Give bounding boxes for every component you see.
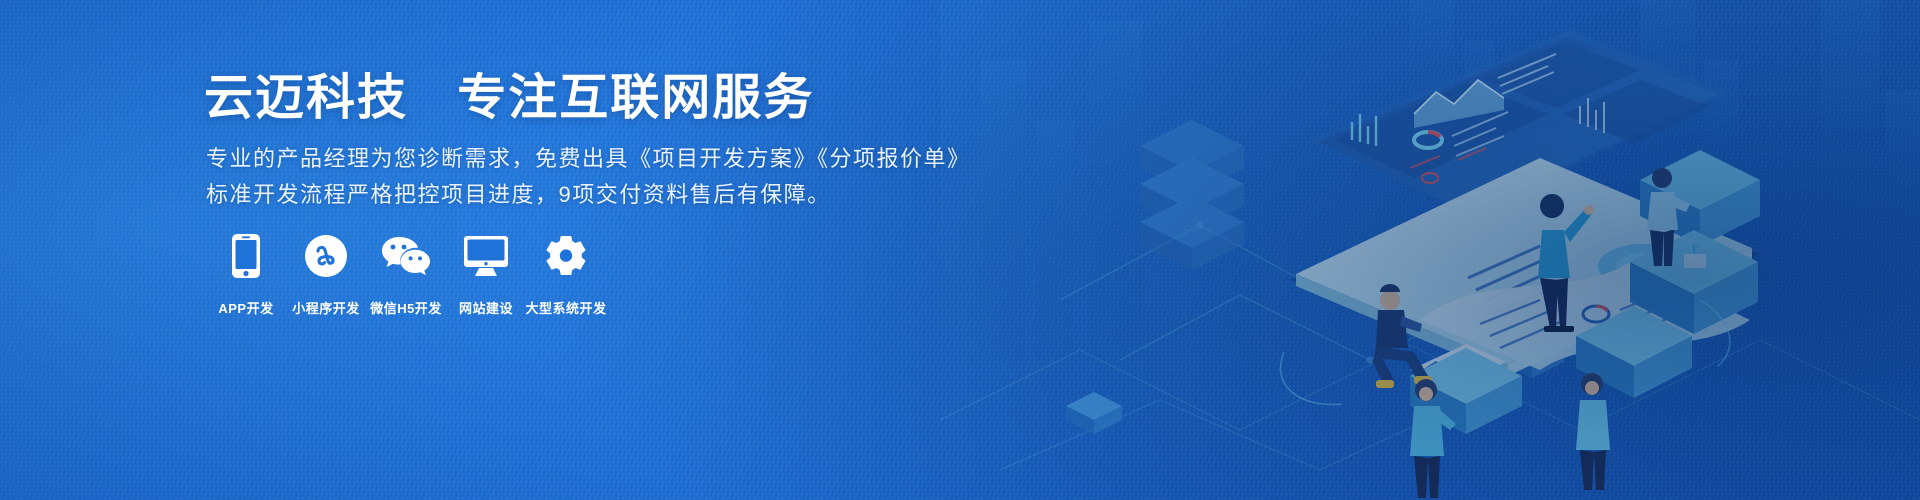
service-item-miniprogram[interactable]: 小程序开发: [286, 232, 366, 317]
service-item-large-system[interactable]: 大型系统开发: [526, 232, 606, 317]
hero-banner: 云迈科技 专注互联网服务 专业的产品经理为您诊断需求，免费出具《项目开发方案》《…: [0, 0, 1920, 500]
subtitle-line-2: 标准开发流程严格把控项目进度，9项交付资料售后有保障。: [206, 184, 831, 206]
subtitle-line-1: 专业的产品经理为您诊断需求，免费出具《项目开发方案》《分项报价单》: [206, 148, 971, 170]
headline-brand: 云迈科技: [204, 71, 408, 125]
hero-content: 云迈科技 专注互联网服务 专业的产品经理为您诊断需求，免费出具《项目开发方案》《…: [204, 0, 964, 500]
gear-icon: [544, 232, 588, 280]
service-list: APP开发 小程序开发: [206, 232, 606, 317]
mini-program-icon: [304, 232, 348, 280]
page-title: 云迈科技 专注互联网服务: [204, 74, 814, 123]
wechat-icon: [381, 232, 431, 280]
service-label: 网站建设: [459, 298, 513, 317]
monitor-icon: [463, 232, 509, 280]
service-label: APP开发: [218, 298, 273, 317]
service-label: 小程序开发: [292, 298, 360, 317]
service-label: 微信H5开发: [370, 298, 442, 317]
service-item-app[interactable]: APP开发: [206, 232, 286, 317]
service-item-website[interactable]: 网站建设: [446, 232, 526, 317]
headline-tagline: 专注互联网服务: [457, 71, 814, 125]
isometric-tech-illustration: [940, 0, 1920, 500]
service-item-wechat-h5[interactable]: 微信H5开发: [366, 232, 446, 317]
mobile-phone-icon: [231, 232, 261, 280]
service-label: 大型系统开发: [526, 298, 607, 317]
